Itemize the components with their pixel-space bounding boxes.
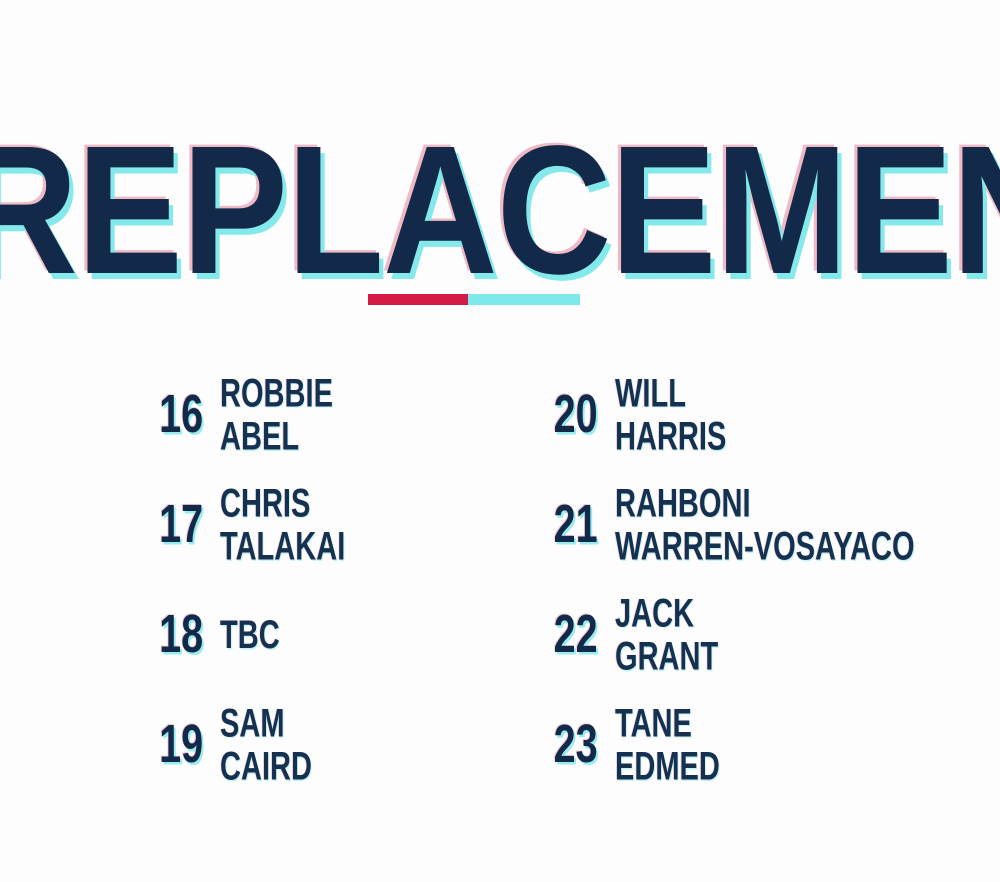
player-last-name: HARRIS [615,415,726,459]
player-first-name: RAHBONI [615,481,915,525]
title-divider [368,294,580,305]
player-last-name: TALAKAI [220,525,345,569]
player-first-name: TBC [220,613,280,657]
jersey-number: 16 [153,388,203,442]
replacements-graphic: REPLACEMENTS 16 ROBBIE ABEL 17 CHRIS TAL… [0,0,1000,882]
jersey-number: 19 [153,718,203,772]
player-row: 21 RAHBONI WARREN-VOSAYACO [535,470,955,580]
player-name: CHRIS TALAKAI [220,481,345,568]
jersey-number: 21 [538,498,597,552]
page-title: REPLACEMENTS [0,118,1000,301]
player-last-name: ABEL [220,415,333,459]
player-name: TBC [220,613,280,657]
player-first-name: ROBBIE [220,371,333,415]
player-first-name: JACK [615,591,718,635]
player-first-name: WILL [615,371,726,415]
jersey-number: 18 [153,608,203,662]
player-name: SAM CAIRD [220,701,312,788]
jersey-number: 23 [538,718,597,772]
jersey-number: 17 [153,498,203,552]
player-row: 23 TANE EDMED [535,690,955,800]
player-columns: 16 ROBBIE ABEL 17 CHRIS TALAKAI 18 TBC [0,360,1000,800]
divider-segment-red [368,294,468,305]
player-last-name: CAIRD [220,745,312,789]
player-row: 19 SAM CAIRD [150,690,520,800]
divider-segment-cyan [468,294,580,305]
player-last-name: WARREN-VOSAYACO [615,525,915,569]
player-column-left: 16 ROBBIE ABEL 17 CHRIS TALAKAI 18 TBC [150,360,520,800]
player-name: JACK GRANT [615,591,718,678]
player-last-name: GRANT [615,635,718,679]
player-name: RAHBONI WARREN-VOSAYACO [615,481,915,568]
player-first-name: CHRIS [220,481,345,525]
player-first-name: TANE [615,701,720,745]
player-first-name: SAM [220,701,312,745]
player-name: TANE EDMED [615,701,720,788]
jersey-number: 22 [538,608,597,662]
player-row: 22 JACK GRANT [535,580,955,690]
page-title-container: REPLACEMENTS [0,118,1000,268]
player-name: ROBBIE ABEL [220,371,333,458]
player-name: WILL HARRIS [615,371,726,458]
player-column-right: 20 WILL HARRIS 21 RAHBONI WARREN-VOSAYAC… [535,360,955,800]
player-row: 17 CHRIS TALAKAI [150,470,520,580]
player-row: 18 TBC [150,580,520,690]
player-last-name: EDMED [615,745,720,789]
jersey-number: 20 [538,388,597,442]
player-row: 20 WILL HARRIS [535,360,955,470]
player-row: 16 ROBBIE ABEL [150,360,520,470]
